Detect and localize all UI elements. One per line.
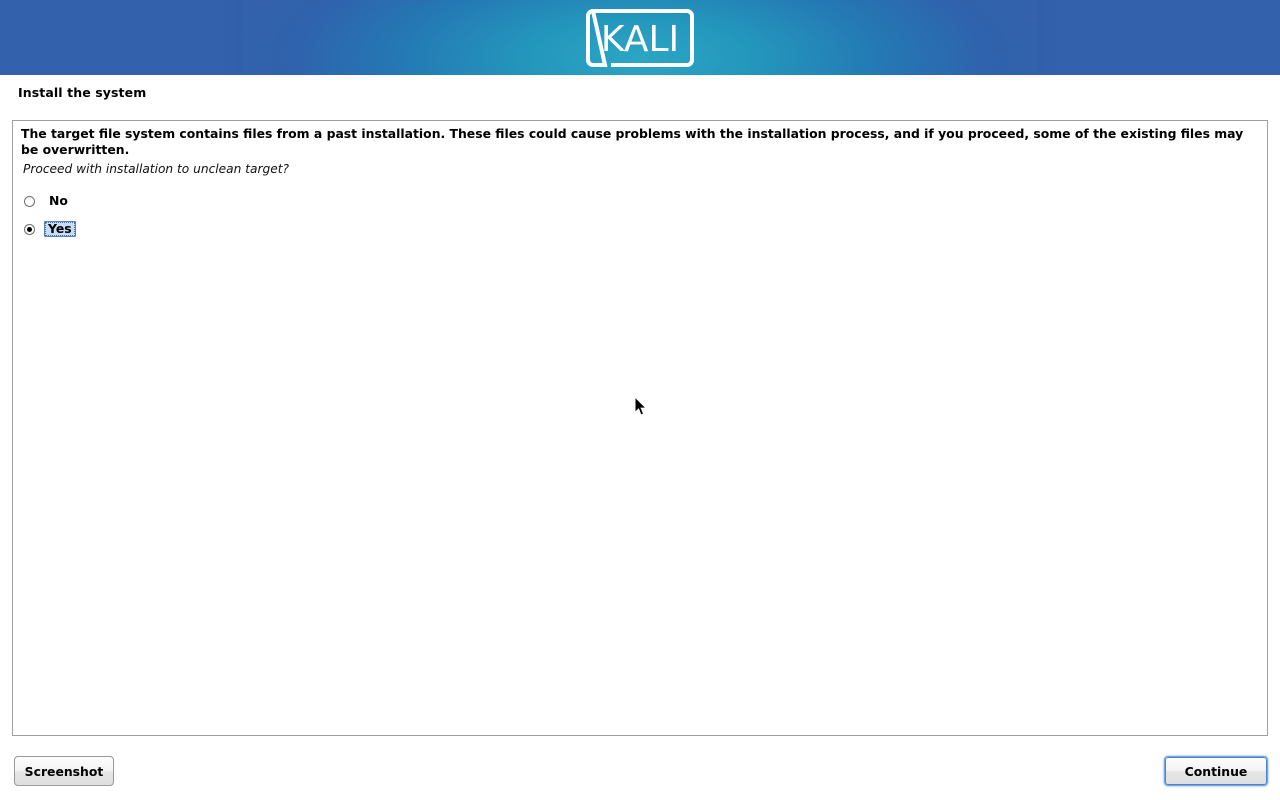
- choice-list: No Yes: [22, 187, 422, 243]
- banner-edge-left: [0, 0, 241, 75]
- choice-row-no[interactable]: No: [22, 187, 422, 215]
- choice-label-no[interactable]: No: [46, 193, 71, 209]
- choice-label-yes[interactable]: Yes: [44, 221, 76, 237]
- kali-banner: KALI: [0, 0, 1280, 75]
- question-text: Proceed with installation to unclean tar…: [23, 162, 289, 176]
- screenshot-button[interactable]: Screenshot: [14, 756, 114, 786]
- banner-edge-right: [1039, 0, 1280, 75]
- choice-row-yes[interactable]: Yes: [22, 215, 422, 243]
- page-title: Install the system: [18, 85, 146, 100]
- warning-message: The target file system contains files fr…: [21, 126, 1245, 158]
- content-panel: The target file system contains files fr…: [12, 120, 1268, 736]
- radio-no-icon[interactable]: [24, 196, 35, 207]
- kali-logo: KALI: [583, 8, 697, 68]
- radio-yes-icon[interactable]: [24, 224, 35, 235]
- logo-wordmark: KALI: [601, 19, 679, 60]
- continue-button[interactable]: Continue: [1164, 756, 1268, 786]
